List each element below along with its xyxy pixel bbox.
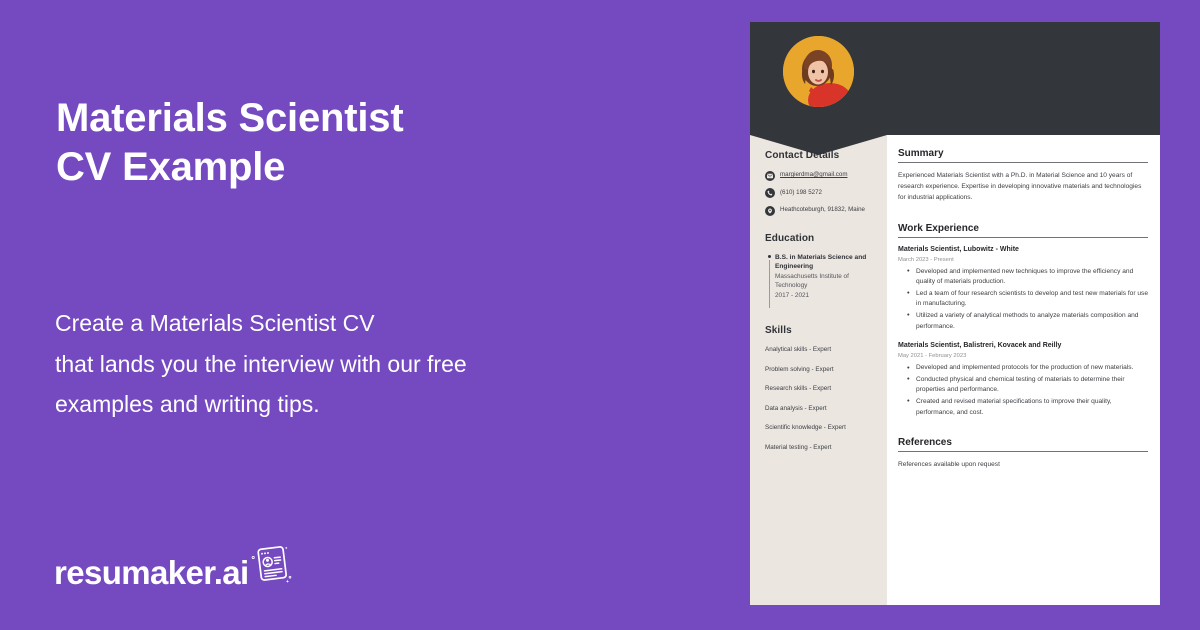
promo-panel: Materials Scientist CV Example Create a …: [0, 0, 750, 630]
cv-main-content: Summary Experienced Materials Scientist …: [898, 148, 1148, 470]
education-dates: 2017 - 2021: [775, 291, 880, 301]
logo-wordmark: resumaker.ai: [54, 555, 249, 591]
contact-details-heading: Contact Details: [765, 150, 880, 161]
page-title: Materials Scientist CV Example: [56, 94, 403, 192]
contact-email[interactable]: margierdma@gmail.com: [780, 170, 848, 180]
cv-sidebar-content: Contact Details margierdma@gmail.com (61…: [765, 150, 880, 462]
timeline-line: [769, 260, 770, 308]
work-experience-item: Materials Scientist, Lubowitz - White Ma…: [898, 245, 1148, 333]
job-bullet: Developed and implemented protocols for …: [898, 363, 1148, 374]
skill-item: Analytical skills - Expert: [765, 345, 880, 354]
work-experience-item: Materials Scientist, Balistreri, Kovacek…: [898, 341, 1148, 418]
skill-item: Material testing - Expert: [765, 443, 880, 452]
envelope-icon: [765, 171, 775, 181]
location-pin-icon: [765, 206, 775, 216]
job-dates: May 2021 - February 2023: [898, 351, 1148, 361]
job-bullet: Utilized a variety of analytical methods…: [898, 311, 1148, 332]
job-dates: March 2023 - Present: [898, 255, 1148, 265]
cv-preview-card[interactable]: Margi Erdma Materials Scientist Contact …: [750, 22, 1160, 605]
summary-text: Experienced Materials Scientist with a P…: [898, 170, 1148, 204]
bullet-dot-icon: [768, 255, 772, 259]
education-heading: Education: [765, 233, 880, 244]
education-school: Massachusetts Institute of Technology: [775, 272, 880, 291]
phone-icon: [765, 188, 775, 198]
job-title: Materials Scientist, Lubowitz - White: [898, 245, 1148, 255]
skills-heading: Skills: [765, 325, 880, 336]
job-bullet: Led a team of four research scientists t…: [898, 289, 1148, 310]
skill-item: Problem solving - Expert: [765, 365, 880, 374]
contact-row-phone[interactable]: (610) 198 5272: [765, 188, 880, 199]
contact-row-address: Heathcoteburgh, 91832, Maine: [765, 205, 880, 216]
contact-address: Heathcoteburgh, 91832, Maine: [780, 205, 865, 215]
work-experience-heading: Work Experience: [898, 223, 1148, 238]
references-text: References available upon request: [898, 459, 1148, 470]
skill-item: Research skills - Expert: [765, 384, 880, 393]
references-heading: References: [898, 437, 1148, 452]
job-title: Materials Scientist, Balistreri, Kovacek…: [898, 341, 1148, 351]
avatar: [783, 36, 854, 107]
skill-item: Scientific knowledge - Expert: [765, 423, 880, 432]
job-bullet: Developed and implemented new techniques…: [898, 267, 1148, 288]
job-bullet-list: Developed and implemented protocols for …: [898, 363, 1148, 418]
education-item: B.S. in Materials Science and Engineerin…: [765, 253, 880, 309]
skill-item: Data analysis - Expert: [765, 404, 880, 413]
summary-heading: Summary: [898, 148, 1148, 163]
education-timeline: [765, 253, 774, 309]
page-subtitle: Create a Materials Scientist CV that lan…: [55, 303, 467, 425]
job-bullet: Conducted physical and chemical testing …: [898, 375, 1148, 396]
job-bullet: Created and revised material specificati…: [898, 397, 1148, 418]
resume-document-icon: [251, 545, 293, 590]
education-degree: B.S. in Materials Science and Engineerin…: [775, 253, 880, 272]
job-bullet-list: Developed and implemented new techniques…: [898, 267, 1148, 333]
resumaker-logo[interactable]: resumaker.ai: [54, 545, 293, 591]
contact-phone: (610) 198 5272: [780, 188, 822, 198]
contact-row-email[interactable]: margierdma@gmail.com: [765, 170, 880, 181]
